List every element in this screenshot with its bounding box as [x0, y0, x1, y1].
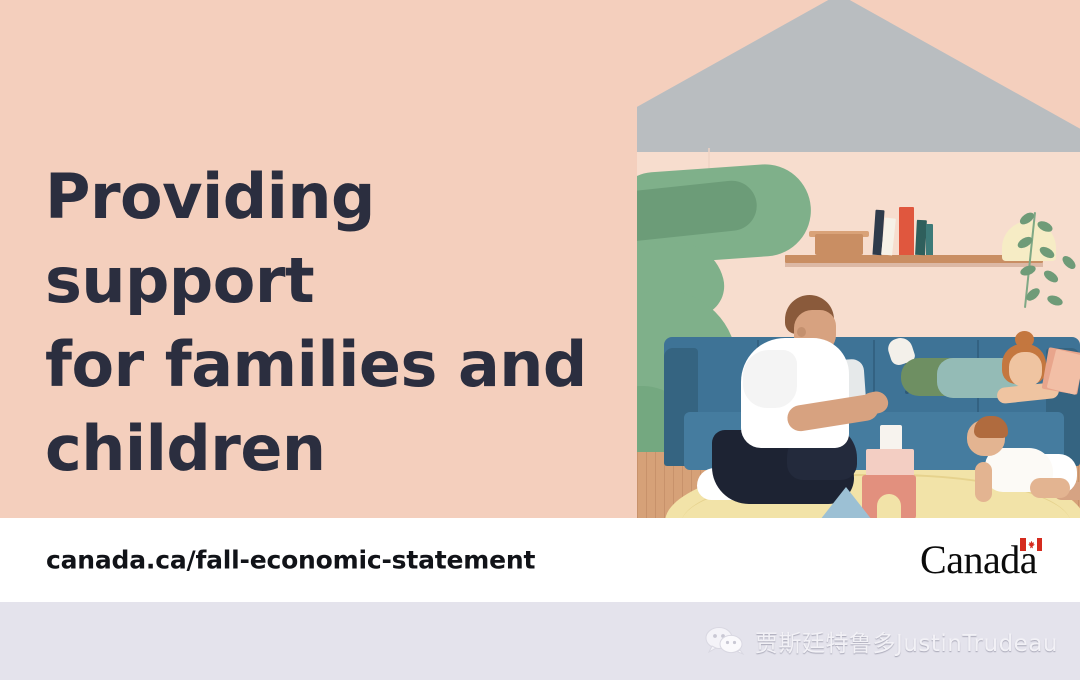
- screenshot-root: Providing support for families and child…: [0, 0, 1080, 680]
- child-face: [1009, 352, 1042, 387]
- maple-leaf-icon: [1028, 541, 1035, 549]
- website-url[interactable]: canada.ca/fall-economic-statement: [46, 546, 535, 575]
- wechat-account-watermark: 贾斯廷特鲁多JustinTrudeau: [705, 624, 1058, 658]
- flag-bar-left: [1020, 538, 1026, 551]
- father-sleeve: [743, 350, 797, 408]
- baby-leg-front: [1030, 478, 1070, 498]
- book-teal: [926, 224, 933, 255]
- baby-arm: [975, 462, 992, 502]
- wechat-footer-bar: 贾斯廷特鲁多JustinTrudeau: [0, 602, 1080, 680]
- hero-banner: Providing support for families and child…: [0, 0, 1080, 518]
- url-band: canada.ca/fall-economic-statement Canada: [0, 518, 1080, 602]
- toy-block-arch-opening: [877, 494, 901, 518]
- family-living-room-illustration: [637, 0, 1080, 518]
- page-title: Providing support for families and child…: [45, 155, 625, 491]
- wechat-icon: [705, 627, 745, 655]
- toy-block-triangle: [820, 487, 872, 518]
- shelf-shadow: [785, 263, 1043, 267]
- wechat-account-name: 贾斯廷特鲁多JustinTrudeau: [755, 624, 1058, 658]
- baby-hair: [974, 416, 1008, 438]
- canada-wordmark: Canada: [920, 540, 1042, 580]
- wooden-box: [815, 234, 863, 255]
- father-ear: [797, 327, 806, 337]
- book-red: [899, 207, 914, 255]
- house-roof-icon: [637, 0, 1080, 146]
- flag-bar-right: [1037, 538, 1043, 551]
- toy-block-light-pink: [866, 449, 914, 477]
- canada-flag-icon: [1020, 538, 1042, 551]
